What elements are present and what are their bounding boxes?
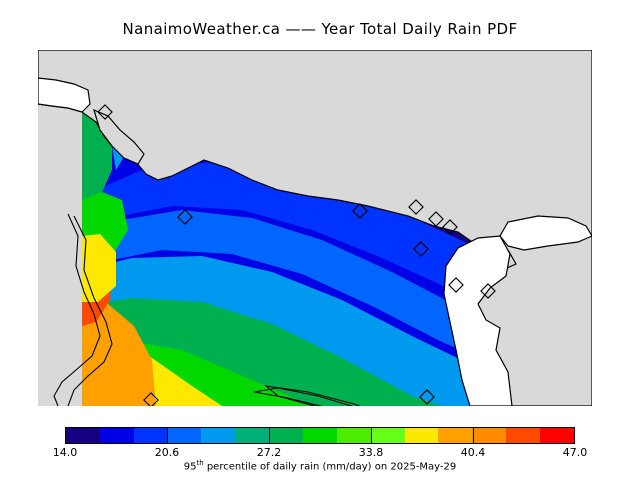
rainfall-contour-field <box>82 50 508 406</box>
colorbar-tick-label-0: 14.0 <box>53 446 78 459</box>
colorbar-segment-3 <box>168 428 202 443</box>
colorbar-segment-14 <box>540 428 574 443</box>
colorbar-tick-label-3: 33.8 <box>359 446 384 459</box>
colorbar-segment-11 <box>438 428 472 443</box>
caption-prefix: 95 <box>184 461 197 472</box>
colorbar-segment-2 <box>134 428 168 443</box>
colorbar-tick-label-5: 47.0 <box>563 446 588 459</box>
colorbar-segment-0 <box>66 428 100 443</box>
colorbar[interactable] <box>65 427 575 444</box>
colorbar-segment-10 <box>405 428 439 443</box>
colorbar-segment-12 <box>472 428 506 443</box>
colorbar-segment-8 <box>337 428 371 443</box>
caption-superscript: th <box>196 459 203 467</box>
colorbar-caption: 95th percentile of daily rain (mm/day) o… <box>0 459 640 472</box>
colorbar-segment-5 <box>235 428 269 443</box>
colorbar-tick-3 <box>371 427 372 444</box>
colorbar-tick-label-4: 40.4 <box>461 446 486 459</box>
caption-rest: percentile of daily rain (mm/day) on 202… <box>204 461 457 472</box>
colorbar-tick-4 <box>473 427 474 444</box>
colorbar-tick-label-1: 20.6 <box>155 446 180 459</box>
page-title: NanaimoWeather.ca —— Year Total Daily Ra… <box>0 20 640 38</box>
map-panel <box>38 50 592 406</box>
contour-svg <box>82 50 508 406</box>
colorbar-tick-1 <box>167 427 168 444</box>
colorbar-tick-2 <box>269 427 270 444</box>
colorbar-tick-label-2: 27.2 <box>257 446 282 459</box>
colorbar-segment-13 <box>506 428 540 443</box>
colorbar-segment-9 <box>371 428 405 443</box>
colorbar-segment-7 <box>303 428 337 443</box>
colorbar-segment-1 <box>100 428 134 443</box>
colorbar-tick-labels: 14.020.627.233.840.447.0 <box>0 446 640 460</box>
colorbar-segment-4 <box>201 428 235 443</box>
colorbar-segment-6 <box>269 428 303 443</box>
